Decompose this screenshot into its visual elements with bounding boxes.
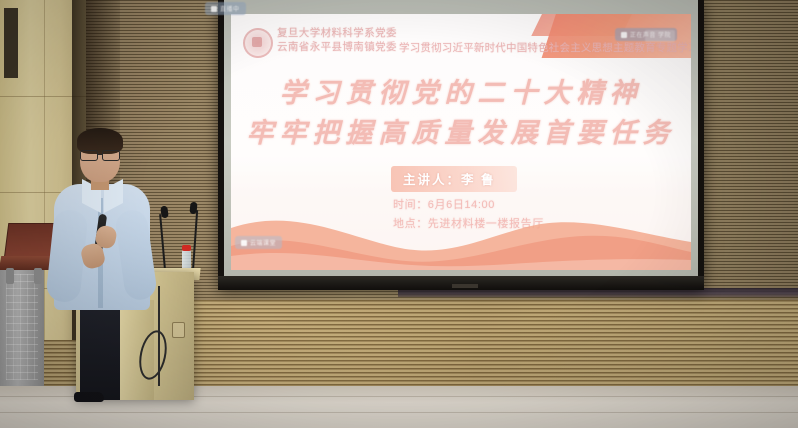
- signal-icon: [621, 32, 627, 38]
- live-icon: [211, 6, 217, 12]
- presenter-trousers: [80, 304, 120, 400]
- presentation-slide[interactable]: 复旦大学材料科学系党委 云南省永平县博南镇党委 学习贯彻习近平新时代中国特色社会…: [231, 14, 691, 270]
- live-status-label: 直播中: [220, 4, 240, 13]
- stream-badge-bl-label: 云端课堂: [250, 238, 276, 247]
- user-icon: [241, 240, 247, 246]
- slide-title-block: 学习贯彻党的二十大精神 牢牢把握高质量发展首要任务: [231, 74, 691, 154]
- equipment-rack: [0, 268, 44, 386]
- glasses-icon: [79, 150, 121, 159]
- slide-title-line-1: 学习贯彻党的二十大精神: [231, 74, 691, 114]
- water-bottle: [182, 250, 191, 270]
- stream-badge-bottom-left: 云端课堂: [235, 236, 282, 249]
- organizer-line-1: 复旦大学材料科学系党委: [277, 26, 397, 40]
- slide-subtitle: 学习贯彻习近平新时代中国特色社会主义思想主题教育专题学习会: [399, 40, 689, 55]
- live-status-badge: 直播中: [205, 2, 246, 15]
- university-seal-icon: [243, 28, 273, 58]
- slide-mountain-graphic: [231, 194, 691, 270]
- wall-socket: [172, 322, 185, 338]
- pillar-niche: [4, 8, 18, 78]
- slide-title-line-2: 牢牢把握高质量发展首要任务: [231, 114, 691, 154]
- organizer-line-2: 云南省永平县博南镇党委: [277, 40, 397, 54]
- waveform-icon: [645, 30, 675, 42]
- speaker-badge: 主讲人：李 鲁: [391, 166, 517, 192]
- lecture-hall-scene: 复旦大学材料科学系党委 云南省永平县博南镇党委 学习贯彻习近平新时代中国特色社会…: [0, 0, 798, 428]
- screen-roller-knob: [452, 284, 478, 288]
- water-bottle-cap: [182, 245, 191, 251]
- organizer-lines: 复旦大学材料科学系党委 云南省永平县博南镇党委: [277, 26, 397, 54]
- presenter-shoe: [74, 392, 104, 402]
